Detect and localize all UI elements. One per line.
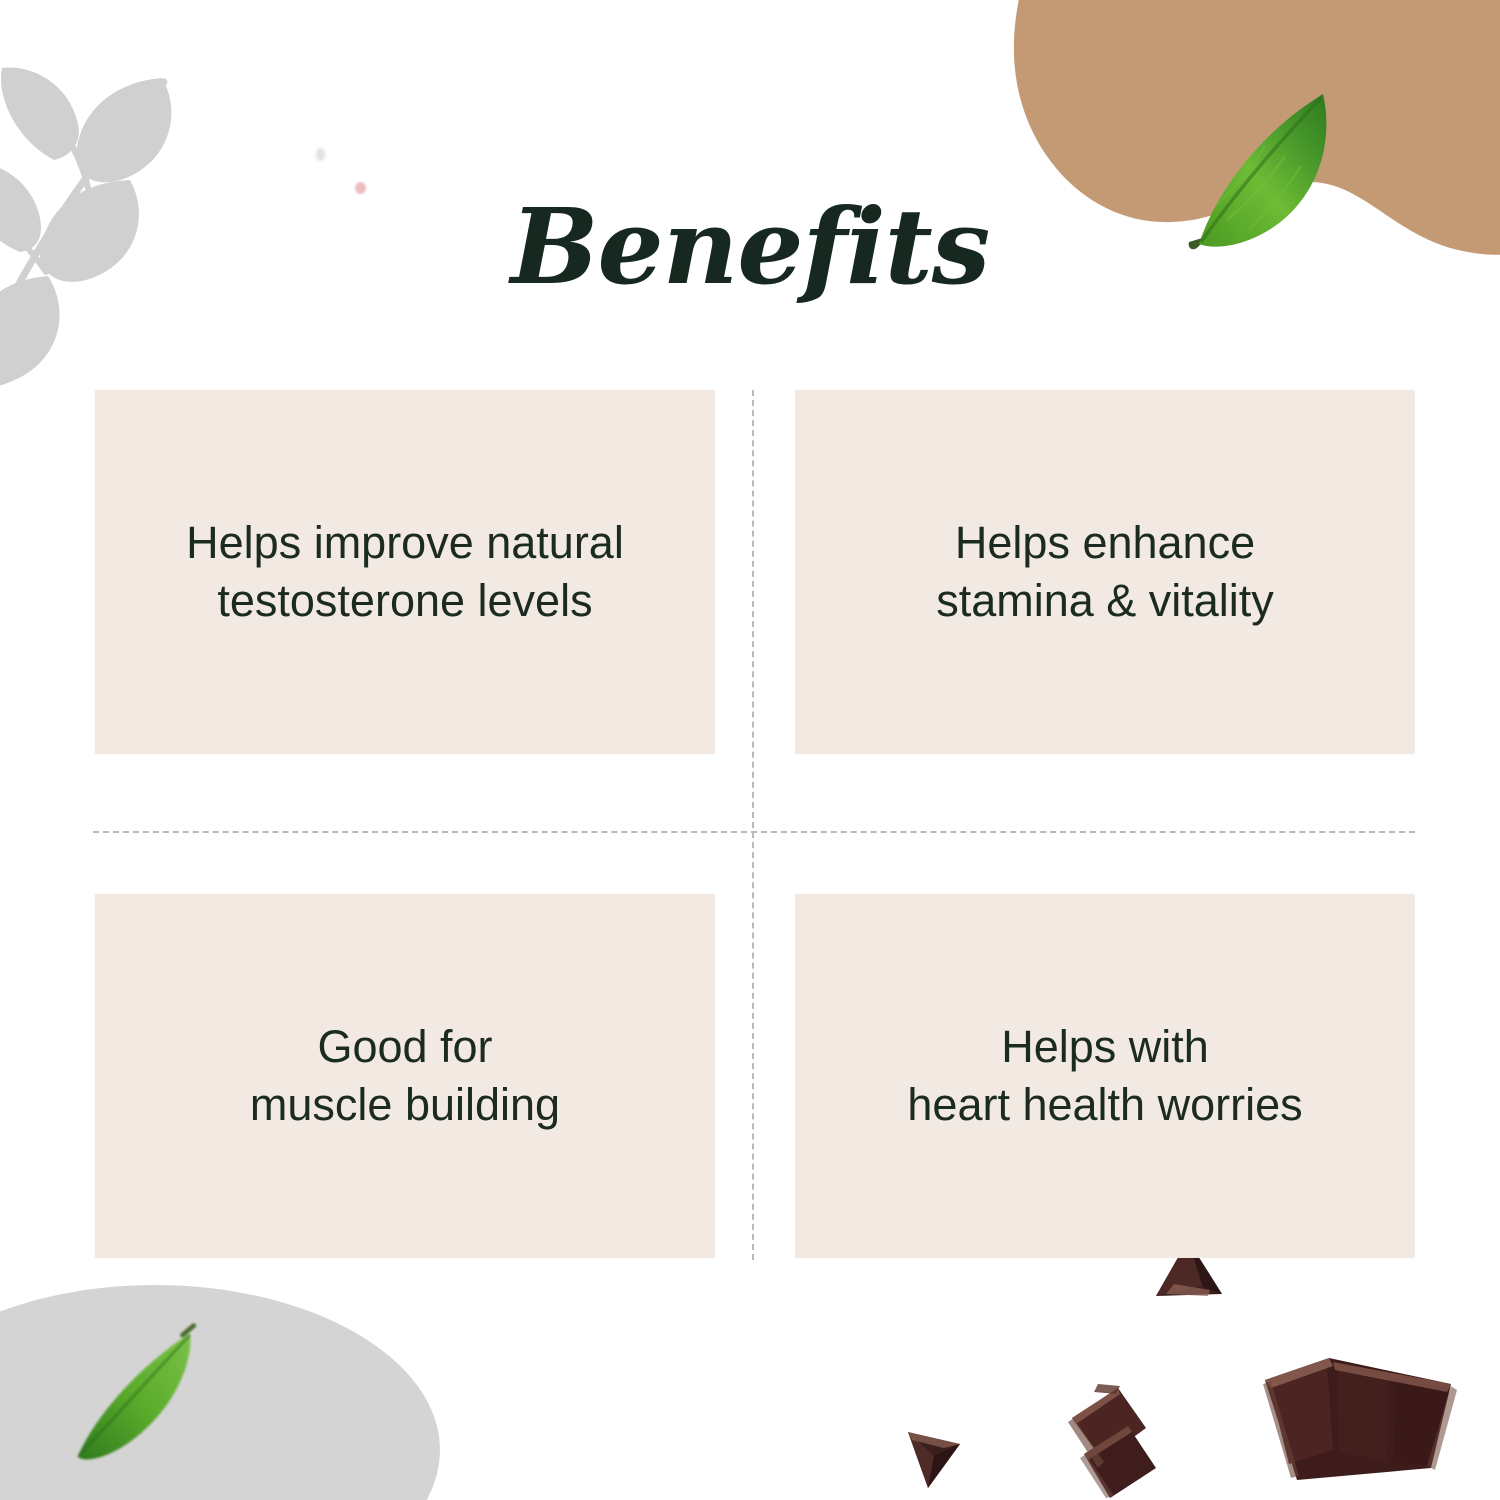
benefit-text: Helps with heart health worries bbox=[907, 1018, 1302, 1133]
ellipse-shape bbox=[0, 1285, 440, 1500]
page-title: Benefits bbox=[0, 190, 1500, 304]
chocolate-chunk-icon bbox=[1058, 1372, 1173, 1500]
benefit-card-muscle-building: Good for muscle building bbox=[95, 894, 715, 1258]
green-leaf-icon bbox=[60, 1320, 215, 1470]
chocolate-bar-icon bbox=[1255, 1340, 1465, 1500]
speck-decor bbox=[316, 148, 325, 161]
benefit-text: Helps enhance stamina & vitality bbox=[936, 514, 1274, 629]
benefits-infographic: Benefits Helps improve natural testoster… bbox=[0, 0, 1500, 1500]
benefit-card-enhance-stamina: Helps enhance stamina & vitality bbox=[795, 390, 1415, 754]
benefit-card-heart-health: Helps with heart health worries bbox=[795, 894, 1415, 1258]
benefits-grid: Helps improve natural testosterone level… bbox=[95, 390, 1415, 1258]
benefit-text: Helps improve natural testosterone level… bbox=[186, 514, 624, 629]
benefit-card-improve-testosterone: Helps improve natural testosterone level… bbox=[95, 390, 715, 754]
benefit-text: Good for muscle building bbox=[250, 1018, 560, 1133]
chocolate-chip-icon bbox=[900, 1426, 966, 1492]
